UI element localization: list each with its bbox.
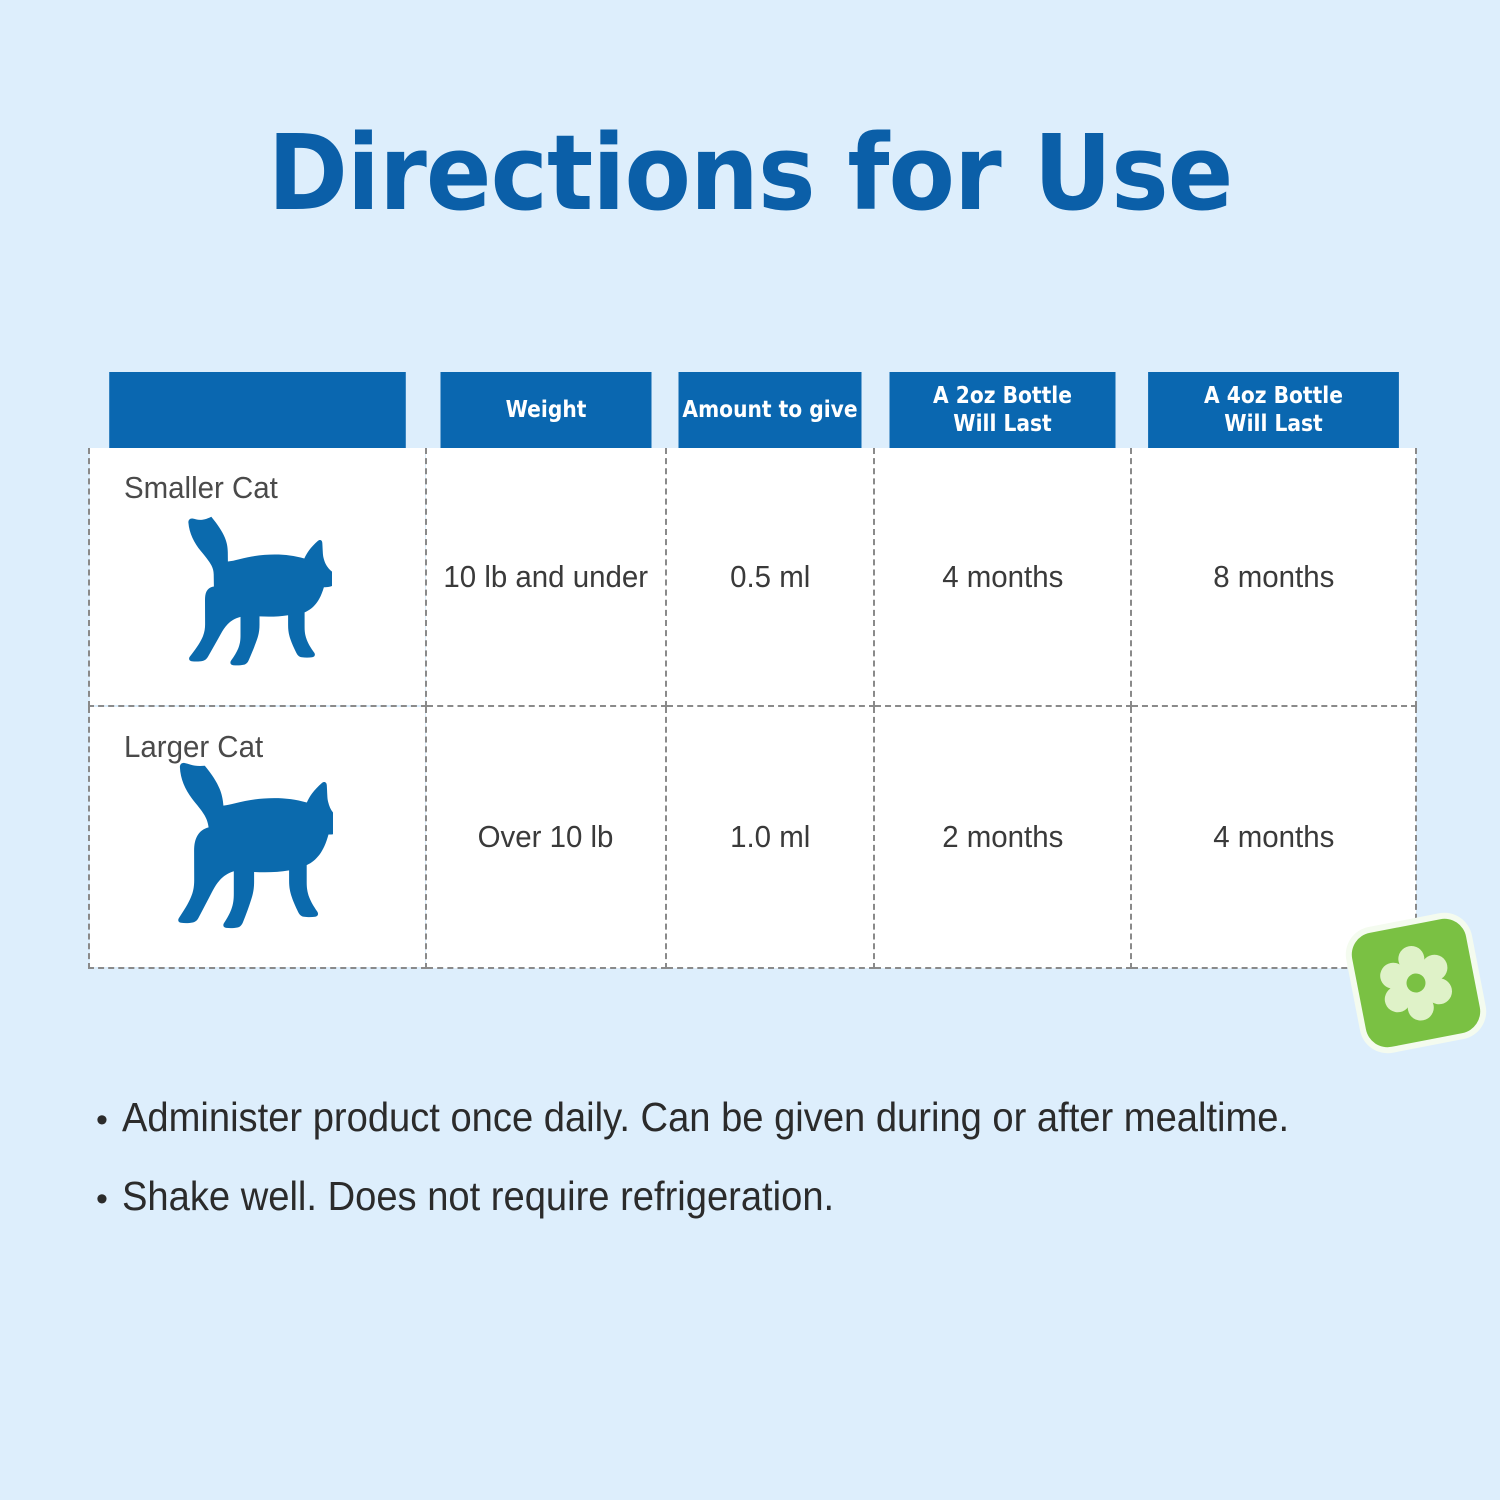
cell-bottle-2oz-small-value: 4 months	[942, 559, 1063, 595]
cell-bottle-4oz-small: 8 months	[1131, 448, 1416, 706]
cell-bottle-4oz-small-value: 8 months	[1213, 559, 1334, 595]
cell-amount-large: 1.0 ml	[666, 706, 874, 968]
cell-amount-small: 0.5 ml	[666, 448, 874, 706]
column-header-amount-line1: Amount to give	[678, 396, 861, 424]
cell-weight-small-value: 10 lb and under	[444, 559, 649, 595]
cell-amount-large-value: 1.0 ml	[730, 819, 810, 855]
cell-amount-small-value: 0.5 ml	[730, 559, 810, 595]
list-item: • Shake well. Does not require refrigera…	[96, 1172, 1436, 1223]
flower-icon	[1370, 937, 1461, 1028]
cell-bottle-2oz-small: 4 months	[874, 448, 1131, 706]
table-body: Smaller Cat 10 lb and under 0.5 ml 4 mon…	[89, 448, 1416, 968]
bullet-text-2: Shake well. Does not require refrigerati…	[122, 1172, 834, 1220]
bullet-marker-icon: •	[96, 1096, 122, 1144]
cell-animal-small: Smaller Cat	[89, 448, 426, 706]
column-header-weight-line1: Weight	[440, 396, 651, 424]
column-header-weight: Weight	[440, 372, 651, 448]
large-cat-icon	[138, 755, 333, 948]
cell-bottle-2oz-large: 2 months	[874, 706, 1131, 968]
column-header-bottle-4oz-line2: Will Last	[1148, 410, 1399, 438]
column-header-bottle-4oz: A 4oz Bottle Will Last	[1148, 372, 1399, 448]
cell-weight-large: Over 10 lb	[426, 706, 666, 968]
column-header-amount: Amount to give	[678, 372, 861, 448]
list-item: • Administer product once daily. Can be …	[96, 1093, 1436, 1144]
cell-bottle-4oz-large: 4 months	[1131, 706, 1416, 968]
instruction-list: • Administer product once daily. Can be …	[96, 1093, 1436, 1251]
column-header-bottle-2oz-line1: A 2oz Bottle	[889, 382, 1115, 410]
animal-label-small: Smaller Cat	[124, 470, 278, 506]
flower-badge	[1348, 915, 1484, 1051]
cell-bottle-2oz-large-value: 2 months	[942, 819, 1063, 855]
column-header-bottle-4oz-line1: A 4oz Bottle	[1148, 382, 1399, 410]
table-header: Weight Amount to give A 2oz Bottle Will …	[89, 372, 1416, 448]
bullet-text-1: Administer product once daily. Can be gi…	[122, 1093, 1289, 1141]
page-title: Directions for Use	[53, 118, 1448, 228]
dosing-table: Weight Amount to give A 2oz Bottle Will …	[88, 372, 1417, 969]
cell-weight-small: 10 lb and under	[426, 448, 666, 706]
dosing-table-container: Weight Amount to give A 2oz Bottle Will …	[88, 372, 1415, 969]
table-row: Smaller Cat 10 lb and under 0.5 ml 4 mon…	[89, 448, 1416, 706]
cell-animal-large: Larger Cat	[89, 706, 426, 968]
table-header-row: Weight Amount to give A 2oz Bottle Will …	[89, 372, 1416, 448]
table-row: Larger Cat Over 10 lb 1.0 ml 2 months 4 …	[89, 706, 1416, 968]
column-header-bottle-2oz: A 2oz Bottle Will Last	[889, 372, 1115, 448]
cell-weight-large-value: Over 10 lb	[478, 819, 614, 855]
column-header-bottle-2oz-line2: Will Last	[889, 410, 1115, 438]
bullet-marker-icon: •	[96, 1175, 122, 1223]
column-header-animal	[109, 372, 406, 448]
cell-bottle-4oz-large-value: 4 months	[1213, 819, 1334, 855]
small-cat-icon	[152, 510, 332, 683]
